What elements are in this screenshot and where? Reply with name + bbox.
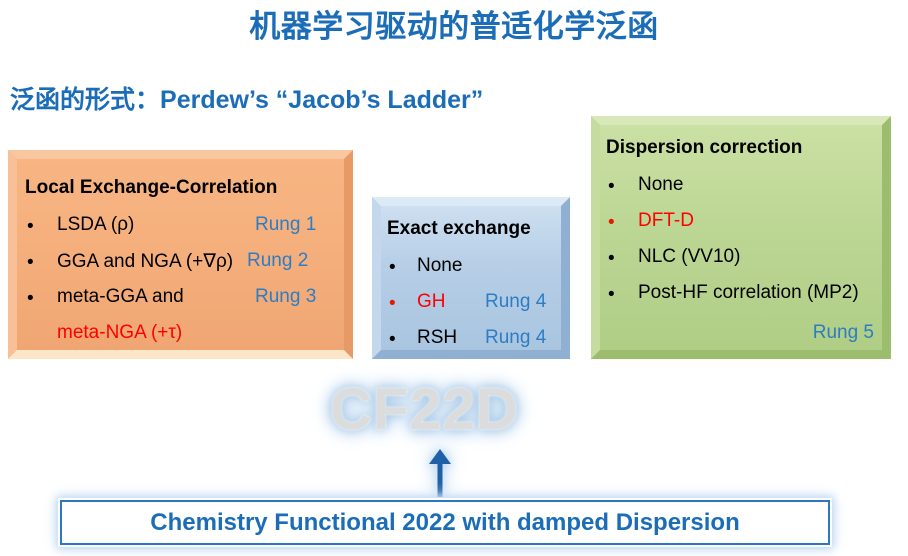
- list-item-highlight: DFT-D: [638, 210, 694, 232]
- rung-label: Rung 4: [485, 327, 546, 349]
- subtitle-chinese: 泛函的形式：: [10, 86, 160, 114]
- bullet-icon: •: [389, 258, 396, 277]
- rung-label-footer: Rung 5: [813, 322, 874, 344]
- panel-local-title: Local Exchange-Correlation: [25, 177, 277, 199]
- caption-text: Chemistry Functional 2022 with damped Di…: [150, 509, 739, 537]
- list-item: meta-GGA and: [57, 286, 184, 308]
- rung-label: Rung 3: [255, 286, 316, 308]
- panel-dispersion-correction: Dispersion correction • None • DFT-D • N…: [591, 116, 891, 359]
- bullet-icon: •: [27, 253, 34, 272]
- caption-box: Chemistry Functional 2022 with damped Di…: [60, 500, 830, 545]
- list-item: LSDA (ρ): [57, 214, 134, 236]
- rung-label: Rung 2: [247, 250, 308, 272]
- bullet-icon: •: [608, 249, 615, 268]
- list-item: RSH: [417, 327, 457, 349]
- bullet-icon: •: [389, 294, 396, 313]
- list-item: None: [417, 255, 462, 277]
- bullet-icon: •: [27, 217, 34, 236]
- list-item: Post-HF correlation (MP2): [638, 282, 859, 304]
- panel-dispersion-title: Dispersion correction: [606, 137, 802, 159]
- panel-local-exchange-correlation: Local Exchange-Correlation • LSDA (ρ) Ru…: [8, 150, 353, 359]
- panel-exact-exchange: Exact exchange • None • GH Rung 4 • RSH …: [372, 197, 570, 359]
- watermark-cf22d: CF22D: [330, 376, 519, 443]
- bullet-icon: •: [389, 330, 396, 349]
- panel-exact-title: Exact exchange: [387, 218, 531, 240]
- subtitle: 泛函的形式：Perdew’s “Jacob’s Ladder”: [10, 80, 483, 116]
- subtitle-english: Perdew’s “Jacob’s Ladder”: [160, 86, 483, 114]
- list-item-highlight: GH: [417, 291, 446, 313]
- bullet-icon: •: [608, 177, 615, 196]
- list-item-highlight: meta-NGA (+τ): [57, 322, 182, 344]
- list-item: GGA and NGA (+∇ρ): [57, 250, 233, 273]
- page-title: 机器学习驱动的普适化学泛函: [0, 8, 908, 45]
- rung-label: Rung 4: [485, 291, 546, 313]
- list-item: NLC (VV10): [638, 246, 740, 268]
- bullet-icon: •: [608, 213, 615, 232]
- bullet-icon: •: [27, 289, 34, 308]
- arrow-up-icon: [424, 447, 456, 497]
- list-item: None: [638, 174, 683, 196]
- rung-label: Rung 1: [255, 214, 316, 236]
- bullet-icon: •: [608, 285, 615, 304]
